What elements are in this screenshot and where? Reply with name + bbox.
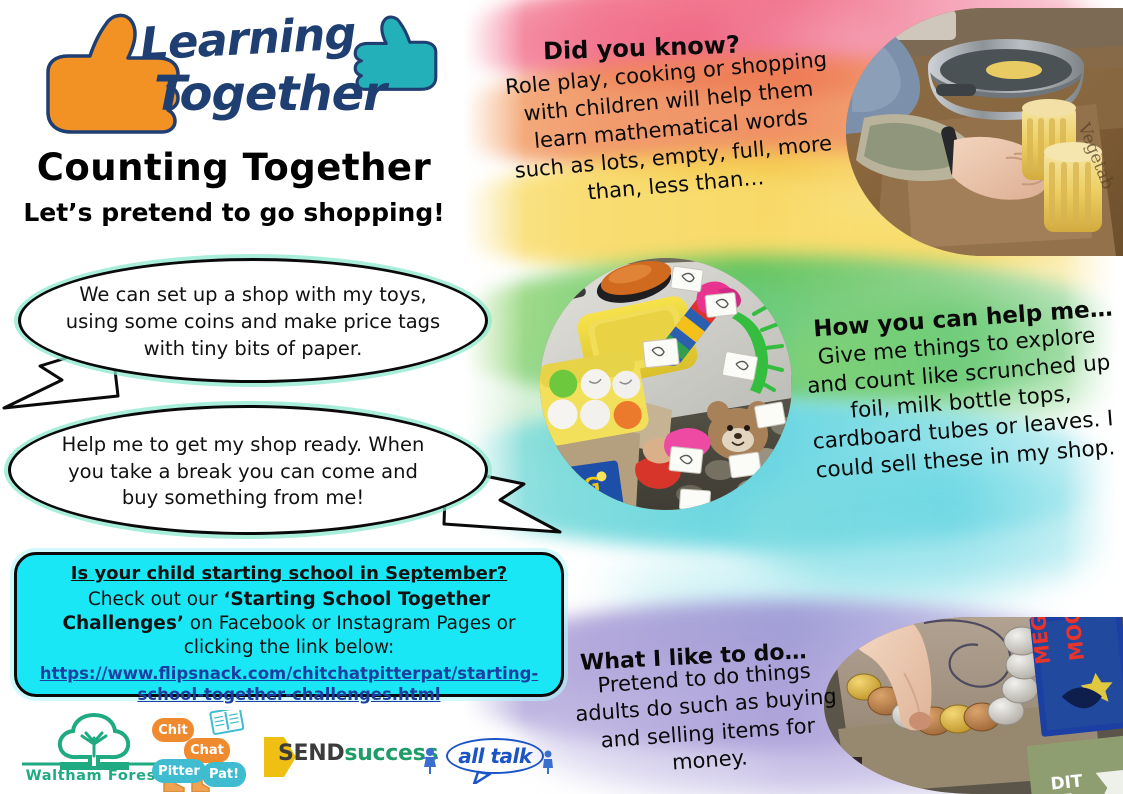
starting-school-body-before: Check out our: [88, 589, 224, 610]
all-talk-logo: all talk: [420, 736, 555, 784]
all-talk-bubble: all talk: [446, 738, 544, 774]
starting-school-callout: Is your child starting school in Septemb…: [14, 552, 564, 697]
pat-bubble: Pat!: [202, 762, 246, 787]
speech-bubble-1: We can set up a shop with my toys, using…: [18, 258, 488, 383]
send-success-wordmark: SENDsuccess: [278, 741, 438, 766]
child-cooking-corn-photo: v Vegetab: [846, 8, 1123, 256]
starting-school-body: Check out our ‘Starting School Together …: [33, 588, 545, 660]
all-talk-label: all talk: [458, 744, 531, 768]
did-you-know-body: Role play, cooking or shopping with chil…: [501, 46, 842, 214]
flipsnack-link[interactable]: https://www.flipsnack.com/chitchatpitter…: [33, 663, 545, 705]
chit-bubble: Chit: [152, 718, 194, 742]
svg-text:MOG: MOG: [1060, 617, 1089, 662]
speech-bubble-2-text: Help me to get my shop ready. When you t…: [61, 432, 425, 513]
counting-coins-image: MEG MOG DIT ST: [824, 617, 1123, 794]
poster-root: v Vegetab: [0, 0, 1123, 794]
child-cooking-corn-image: v Vegetab: [846, 8, 1123, 256]
page-subtitle: Let’s pretend to go shopping!: [0, 198, 468, 227]
waltham-forest-label: Waltham Forest: [22, 768, 167, 784]
pretend-shop-setup-photo: MOG: [540, 258, 792, 510]
counting-coins-photo: MEG MOG DIT ST: [824, 617, 1123, 794]
page-title: Counting Together: [0, 146, 468, 189]
starting-school-heading: Is your child starting school in Septemb…: [33, 563, 545, 586]
send-success-logo: SENDsuccess: [262, 735, 402, 779]
what-i-like-to-do-body: Pretend to do things adults do such as b…: [569, 656, 846, 784]
logo-line-learning: Learning: [139, 6, 357, 70]
logo-line-together: Together: [154, 66, 386, 122]
pitter-bubble: Pitter: [152, 759, 206, 783]
how-you-can-help-body: Give me things to explore and count like…: [801, 321, 1121, 486]
logo-wordmark: Learning Together: [126, 4, 426, 144]
speech-bubble-1-text: We can set up a shop with my toys, using…: [65, 282, 441, 363]
learning-together-logo: Learning Together: [38, 4, 458, 149]
waltham-forest-tree-icon: [22, 712, 167, 770]
speech-bubble-2: Help me to get my shop ready. When you t…: [8, 405, 488, 535]
chit-chat-pitter-pat-logo: Chit Chat Pitter Pat!: [152, 710, 256, 792]
pretend-shop-setup-image: MOG: [540, 258, 792, 510]
waltham-forest-logo: Waltham Forest: [22, 712, 167, 790]
all-talk-figure-left-icon: [422, 748, 438, 774]
send-bold-text: SEND: [278, 741, 344, 766]
svg-text:MEG: MEG: [1026, 617, 1055, 666]
starting-school-body-after: on Facebook or Instagram Pages or clicki…: [184, 613, 516, 658]
all-talk-figure-right-icon: [543, 751, 553, 775]
